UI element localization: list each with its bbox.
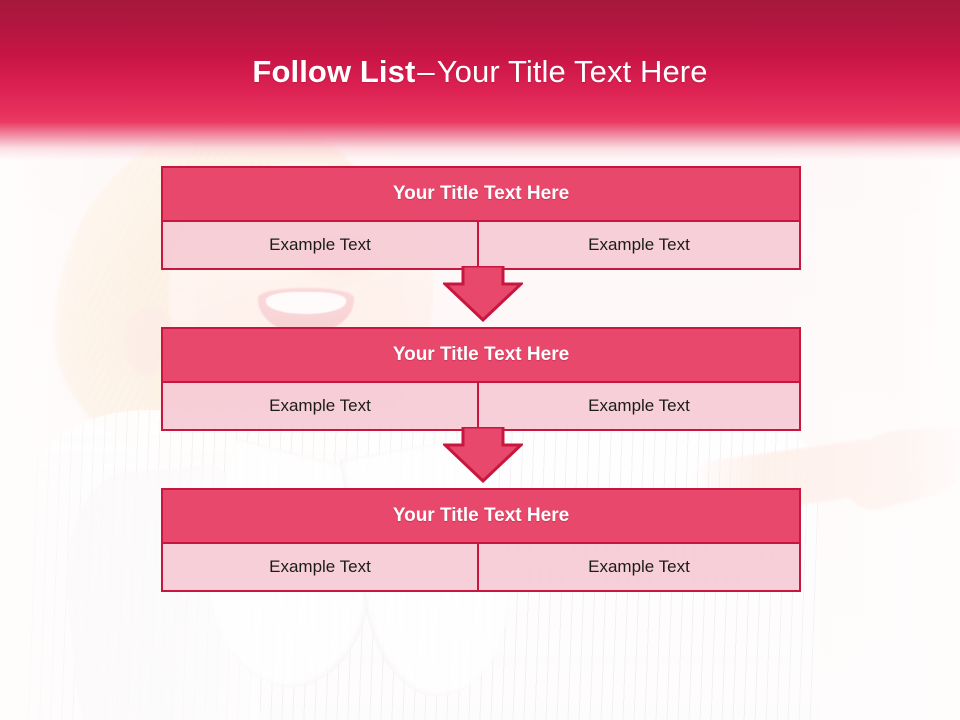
page-title-rest: Your Title Text Here <box>437 54 708 89</box>
flow-group-1: Your Title Text Here Example Text Exampl… <box>161 166 801 270</box>
flow-group-1-cells: Example Text Example Text <box>161 222 801 270</box>
header-banner-fade <box>0 122 960 160</box>
flow-group-3-cells: Example Text Example Text <box>161 544 801 592</box>
flow-group-2-title[interactable]: Your Title Text Here <box>161 327 801 383</box>
flow-group-3-cell-left[interactable]: Example Text <box>161 544 479 592</box>
page-title: Follow List–Your Title Text Here <box>0 52 960 92</box>
slide-canvas: Follow List–Your Title Text Here Your Ti… <box>0 0 960 720</box>
flow-group-3: Your Title Text Here Example Text Exampl… <box>161 488 801 592</box>
flow-group-2-cell-left[interactable]: Example Text <box>161 383 479 431</box>
follow-list-flow: Your Title Text Here Example Text Exampl… <box>161 166 801 592</box>
flow-group-2-cells: Example Text Example Text <box>161 383 801 431</box>
page-title-dash: – <box>415 54 436 89</box>
flow-group-2-cell-right[interactable]: Example Text <box>479 383 801 431</box>
flow-group-3-title[interactable]: Your Title Text Here <box>161 488 801 544</box>
down-arrow-icon <box>443 427 523 483</box>
flow-group-1-cell-left[interactable]: Example Text <box>161 222 479 270</box>
page-title-bold: Follow List <box>252 54 415 89</box>
flow-group-3-cell-right[interactable]: Example Text <box>479 544 801 592</box>
flow-group-1-title[interactable]: Your Title Text Here <box>161 166 801 222</box>
flow-group-1-cell-right[interactable]: Example Text <box>479 222 801 270</box>
flow-group-2: Your Title Text Here Example Text Exampl… <box>161 327 801 431</box>
down-arrow-icon <box>443 266 523 322</box>
